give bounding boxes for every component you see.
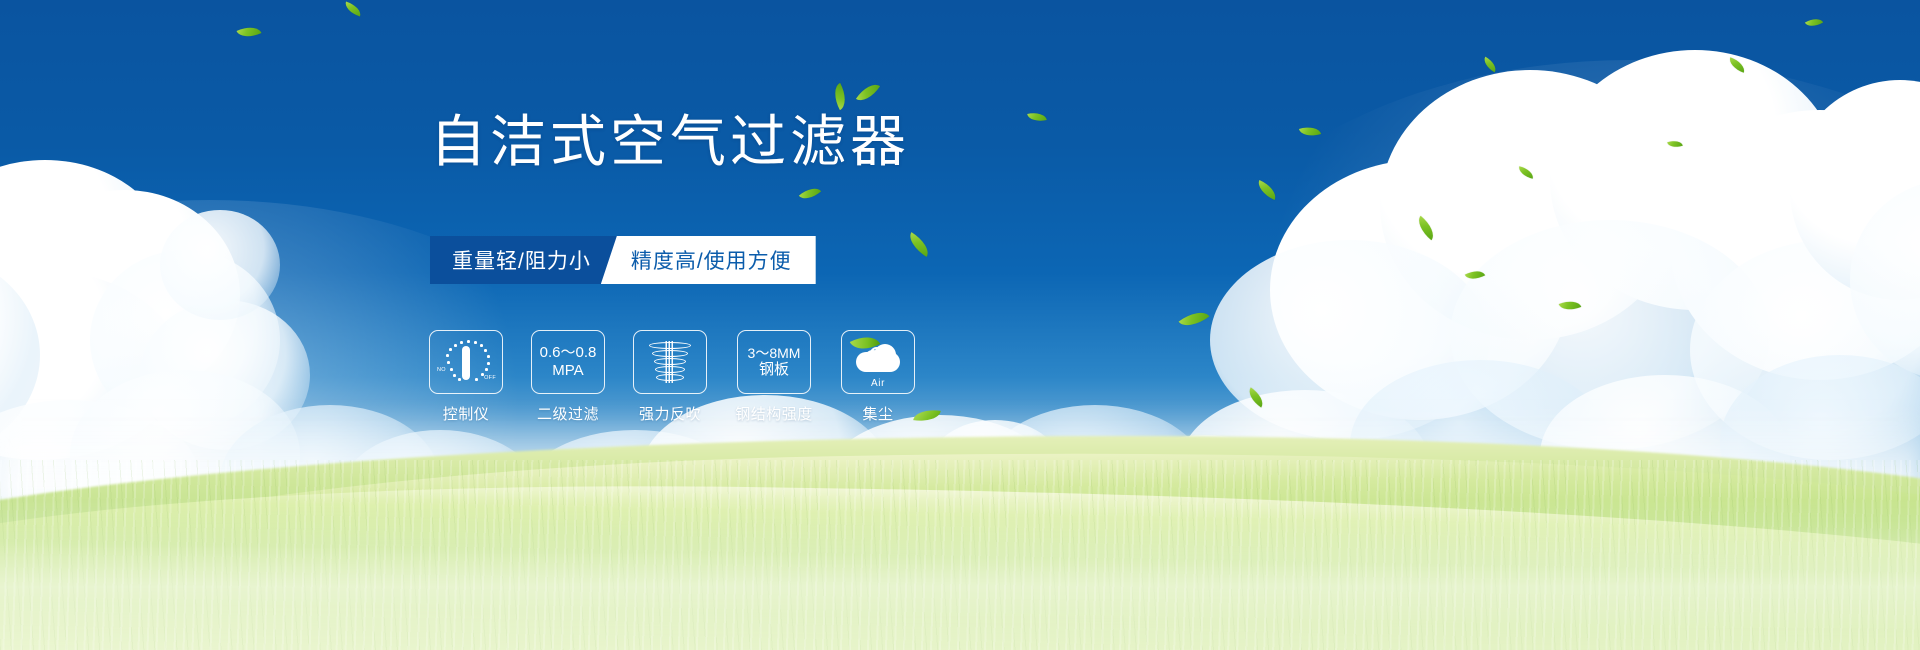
feature-item-steel-strength[interactable]: 3～8MM 钢板 钢结构强度 xyxy=(736,330,812,424)
air-cloud-icon: Air xyxy=(841,330,915,394)
coil-airflow-icon xyxy=(633,330,707,394)
gauge-icon: NO OFF xyxy=(429,330,503,394)
feature-caption: 控制仪 xyxy=(443,403,490,424)
subtitle-left-tag: 重量轻/阻力小 xyxy=(430,236,617,284)
steel-line-1: 3～8MM xyxy=(748,345,801,362)
feature-item-back-blow[interactable]: 强力反吹 xyxy=(634,330,706,424)
air-icon-text: Air xyxy=(850,378,906,389)
steel-plate-text-icon: 3～8MM 钢板 xyxy=(737,330,811,394)
dust-side-leaf xyxy=(913,407,941,423)
feature-caption: 钢结构强度 xyxy=(735,403,813,424)
feature-item-controller[interactable]: NO OFF 控制仪 xyxy=(430,330,502,424)
subtitle-bar: 重量轻/阻力小 精度高/使用方便 xyxy=(430,236,816,284)
feature-caption: 二级过滤 xyxy=(537,403,599,424)
gauge-label-on: NO xyxy=(437,367,446,373)
subtitle-right-tag: 精度高/使用方便 xyxy=(601,236,816,284)
page-title: 自洁式空气过滤器 xyxy=(430,114,910,170)
product-banner: 自洁式空气过滤器 重量轻/阻力小 精度高/使用方便 xyxy=(0,0,1920,650)
steel-line-2: 钢板 xyxy=(759,361,789,379)
banner-content: 自洁式空气过滤器 重量轻/阻力小 精度高/使用方便 xyxy=(0,0,1920,650)
feature-icon-row: NO OFF 控制仪 0.6～0.8 MPA 二级过滤 xyxy=(430,330,914,424)
gauge-label-off: OFF xyxy=(484,375,496,381)
feature-caption: 强力反吹 xyxy=(639,403,701,424)
pressure-line-2: MPA xyxy=(552,362,583,380)
feature-caption: 集尘 xyxy=(862,403,893,424)
feature-item-dust-collection[interactable]: Air 集尘 xyxy=(842,330,914,424)
feature-item-two-stage-filter[interactable]: 0.6～0.8 MPA 二级过滤 xyxy=(532,330,604,424)
title-block: 自洁式空气过滤器 xyxy=(430,114,910,170)
title-sprout-leaves xyxy=(828,80,884,120)
pressure-line-1: 0.6～0.8 xyxy=(540,344,597,362)
pressure-text-icon: 0.6～0.8 MPA xyxy=(531,330,605,394)
